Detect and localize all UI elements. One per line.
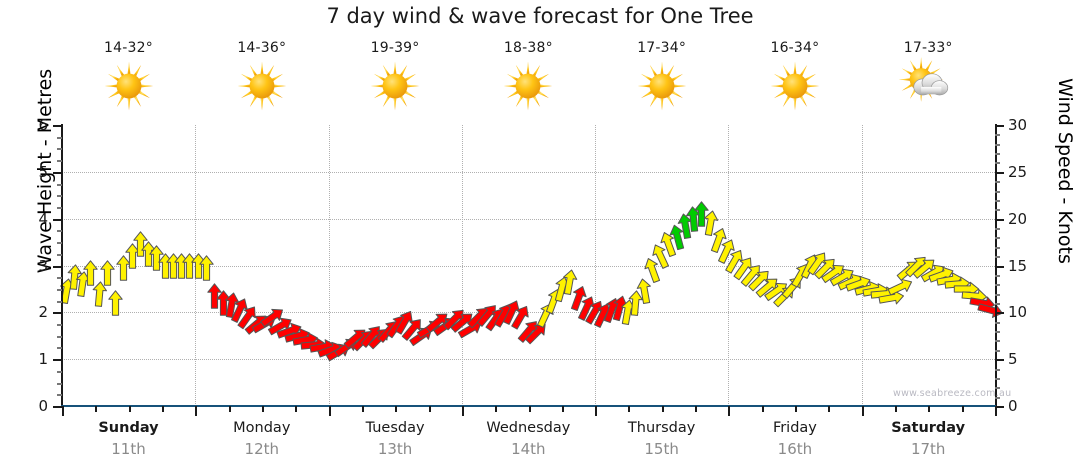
right-axis-minor-tick <box>995 209 1000 211</box>
left-axis-tick <box>53 406 62 408</box>
right-axis-tick <box>995 266 1004 268</box>
day-boundary-tick <box>62 406 64 416</box>
right-axis-minor-tick <box>995 294 1000 296</box>
left-axis-minor-tick <box>57 301 62 303</box>
sunny-icon <box>329 62 462 110</box>
left-axis-tick-label: 2 <box>20 303 48 321</box>
day-name: Monday <box>195 420 328 436</box>
day-boundary-tick <box>462 406 464 416</box>
x-axis-tick <box>429 406 431 412</box>
left-axis-minor-tick <box>57 336 62 338</box>
right-axis-tick-label: 20 <box>1008 210 1040 228</box>
day-boundary-tick <box>862 406 864 416</box>
left-axis-tick <box>53 266 62 268</box>
temperature-range: 17-33° <box>862 40 995 56</box>
day-boundary-tick <box>728 406 730 416</box>
x-axis-tick <box>628 406 630 412</box>
day-label-friday[interactable]: Friday16th <box>728 420 861 458</box>
left-axis-tick <box>53 359 62 361</box>
day-header-tuesday: 19-39° <box>329 40 462 110</box>
right-axis-tick-label: 25 <box>1008 163 1040 181</box>
left-axis-tick <box>53 219 62 221</box>
day-label-monday[interactable]: Monday12th <box>195 420 328 458</box>
sunny-icon <box>462 62 595 110</box>
left-axis-minor-tick <box>57 254 62 256</box>
right-axis-minor-tick <box>995 162 1000 164</box>
left-axis-minor-tick <box>57 277 62 279</box>
right-axis-minor-tick <box>995 153 1000 155</box>
left-axis-minor-tick <box>57 242 62 244</box>
day-separator-gridline <box>595 125 596 406</box>
left-axis-tick-label: 5 <box>20 163 48 181</box>
x-axis-tick <box>529 406 531 412</box>
sunny-icon <box>595 62 728 110</box>
right-axis-tick <box>995 172 1004 174</box>
wind-arrow <box>199 255 214 281</box>
left-axis-tick <box>53 172 62 174</box>
right-axis-tick <box>995 359 1004 361</box>
left-axis-tick <box>53 312 62 314</box>
plot-area <box>62 125 995 406</box>
x-axis-tick <box>828 406 830 412</box>
right-axis-minor-tick <box>995 284 1000 286</box>
right-axis-tick-label: 0 <box>1008 397 1040 415</box>
right-axis-minor-tick <box>995 256 1000 258</box>
left-axis-tick-label: 0 <box>20 397 48 415</box>
sunny-icon <box>62 62 195 110</box>
day-boundary-tick <box>329 406 331 416</box>
day-label-saturday[interactable]: Saturday17th <box>862 420 995 458</box>
left-axis-minor-tick <box>57 207 62 209</box>
x-axis-tick <box>928 406 930 412</box>
horizontal-gridline <box>62 219 995 220</box>
right-axis-minor-tick <box>995 181 1000 183</box>
day-date: 14th <box>462 440 595 458</box>
x-axis-tick <box>162 406 164 412</box>
partly-cloudy-icon <box>862 62 995 110</box>
right-axis-minor-tick <box>995 200 1000 202</box>
sunny-icon <box>195 62 328 110</box>
right-axis-minor-tick <box>995 191 1000 193</box>
temperature-range: 16-34° <box>728 40 861 56</box>
day-header-thursday: 17-34° <box>595 40 728 110</box>
temperature-range: 14-32° <box>62 40 195 56</box>
left-axis-minor-tick <box>57 324 62 326</box>
left-axis-minor-tick <box>57 383 62 385</box>
horizontal-gridline <box>62 359 995 360</box>
left-axis-tick-label: 4 <box>20 210 48 228</box>
x-axis-tick <box>362 406 364 412</box>
left-axis-tick <box>53 125 62 127</box>
x-axis-tick <box>495 406 497 412</box>
day-header-wednesday: 18-38° <box>462 40 595 110</box>
right-axis-tick <box>995 312 1004 314</box>
watermark: www.seabreeze.com.au <box>893 388 1012 399</box>
right-axis-minor-tick <box>995 275 1000 277</box>
day-name: Saturday <box>862 420 995 436</box>
wind-arrow <box>976 299 1005 320</box>
day-name: Sunday <box>62 420 195 436</box>
left-axis-tick-label: 3 <box>20 257 48 275</box>
temperature-range: 14-36° <box>195 40 328 56</box>
day-label-wednesday[interactable]: Wednesday14th <box>462 420 595 458</box>
right-axis-minor-tick <box>995 350 1000 352</box>
left-axis-minor-tick <box>57 195 62 197</box>
day-date: 17th <box>862 440 995 458</box>
day-boundary-tick <box>195 406 197 416</box>
forecast-chart: 7 day wind & wave forecast for One Tree … <box>0 0 1080 475</box>
x-axis-tick <box>262 406 264 412</box>
right-axis-minor-tick <box>995 237 1000 239</box>
x-axis-tick <box>295 406 297 412</box>
day-name: Tuesday <box>329 420 462 436</box>
right-axis-minor-tick <box>995 134 1000 136</box>
right-axis-tick <box>995 125 1004 127</box>
x-axis-tick <box>762 406 764 412</box>
day-date: 13th <box>329 440 462 458</box>
x-axis-tick <box>562 406 564 412</box>
right-axis-minor-tick <box>995 331 1000 333</box>
x-axis-tick <box>129 406 131 412</box>
day-name: Friday <box>728 420 861 436</box>
temperature-range: 17-34° <box>595 40 728 56</box>
left-axis-minor-tick <box>57 347 62 349</box>
wind-arrow <box>108 290 123 316</box>
left-axis-minor-tick <box>57 137 62 139</box>
left-axis-tick-label: 6 <box>20 116 48 134</box>
left-axis-minor-tick <box>57 394 62 396</box>
day-header-sunday: 14-32° <box>62 40 195 110</box>
temperature-range: 18-38° <box>462 40 595 56</box>
day-label-tuesday[interactable]: Tuesday13th <box>329 420 462 458</box>
right-axis-minor-tick <box>995 228 1000 230</box>
day-header-friday: 16-34° <box>728 40 861 110</box>
right-axis-minor-tick <box>995 378 1000 380</box>
left-axis-minor-tick <box>57 148 62 150</box>
x-axis-tick <box>895 406 897 412</box>
day-header-monday: 14-36° <box>195 40 328 110</box>
day-name: Wednesday <box>462 420 595 436</box>
right-axis-minor-tick <box>995 340 1000 342</box>
right-axis-tick-label: 5 <box>1008 350 1040 368</box>
x-axis-tick <box>662 406 664 412</box>
day-boundary-tick <box>995 406 997 416</box>
x-axis-tick <box>395 406 397 412</box>
right-axis-minor-tick <box>995 247 1000 249</box>
day-date: 16th <box>728 440 861 458</box>
day-date: 12th <box>195 440 328 458</box>
right-axis-minor-tick <box>995 144 1000 146</box>
page-title: 7 day wind & wave forecast for One Tree <box>0 4 1080 28</box>
horizontal-gridline <box>62 172 995 173</box>
left-axis-minor-tick <box>57 289 62 291</box>
x-axis-tick <box>95 406 97 412</box>
temperature-range: 19-39° <box>329 40 462 56</box>
day-label-thursday[interactable]: Thursday15th <box>595 420 728 458</box>
left-axis-minor-tick <box>57 230 62 232</box>
left-axis-tick-label: 1 <box>20 350 48 368</box>
right-axis-minor-tick <box>995 322 1000 324</box>
day-boundary-tick <box>595 406 597 416</box>
day-date: 11th <box>62 440 195 458</box>
left-axis-minor-tick <box>57 371 62 373</box>
day-separator-gridline <box>862 125 863 406</box>
right-axis-tick-label: 30 <box>1008 116 1040 134</box>
day-separator-gridline <box>462 125 463 406</box>
day-label-sunday[interactable]: Sunday11th <box>62 420 195 458</box>
wind-arrow <box>100 260 115 286</box>
left-axis-minor-tick <box>57 160 62 162</box>
day-name: Thursday <box>595 420 728 436</box>
left-axis-minor-tick <box>57 184 62 186</box>
right-axis-tick <box>995 219 1004 221</box>
sunny-icon <box>728 62 861 110</box>
x-axis-tick <box>795 406 797 412</box>
day-date: 15th <box>595 440 728 458</box>
right-axis-tick-label: 15 <box>1008 257 1040 275</box>
right-axis-tick-label: 10 <box>1008 303 1040 321</box>
x-axis-tick <box>695 406 697 412</box>
right-axis-minor-tick <box>995 369 1000 371</box>
day-header-saturday: 17-33° <box>862 40 995 110</box>
x-axis-tick <box>229 406 231 412</box>
right-axis-title: Wind Speed - Knots <box>1054 6 1076 336</box>
x-axis-tick <box>962 406 964 412</box>
right-axis-minor-tick <box>995 303 1000 305</box>
